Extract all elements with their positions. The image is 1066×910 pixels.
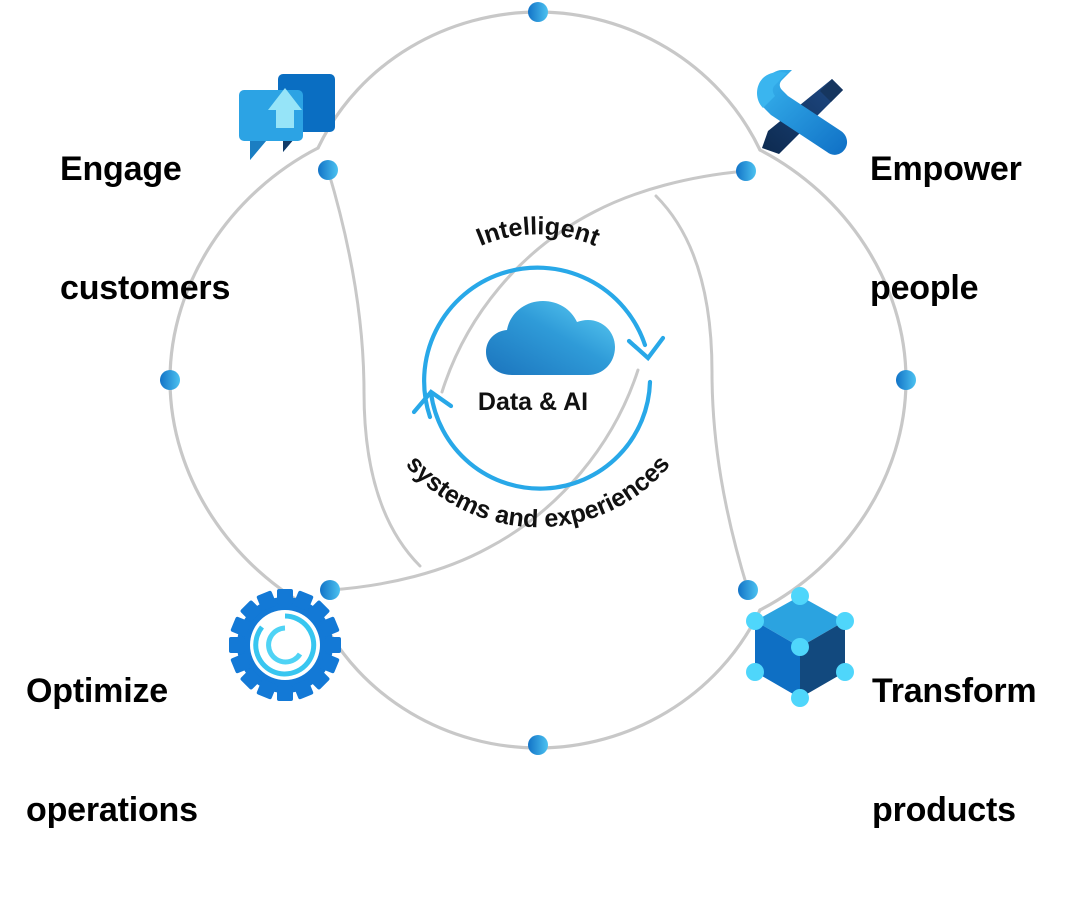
spiral-arm-top-left bbox=[328, 170, 420, 566]
ring-arc-top bbox=[318, 12, 760, 150]
ring-arc-bottom bbox=[318, 610, 760, 748]
pillar-label-empower-line2: people bbox=[870, 269, 1022, 309]
pillar-label-transform-line1: Transform bbox=[872, 672, 1036, 712]
gear-icon bbox=[229, 589, 341, 701]
pillar-label-engage-customers[interactable]: Engage customers bbox=[60, 70, 230, 388]
pillar-label-optimize-operations[interactable]: Optimize operations bbox=[26, 592, 198, 910]
node-top[interactable] bbox=[528, 2, 548, 22]
node-bottom[interactable] bbox=[528, 735, 548, 755]
pillar-label-optimize-line1: Optimize bbox=[26, 672, 198, 712]
wrench-screwdriver-icon bbox=[757, 70, 847, 155]
cloud-icon bbox=[486, 301, 615, 375]
cycle-arrowhead-right bbox=[629, 338, 663, 358]
node-inner-top-right[interactable] bbox=[736, 161, 756, 181]
pillar-label-empower-people[interactable]: Empower people bbox=[870, 70, 1022, 388]
circular-arrow-icon bbox=[414, 268, 663, 489]
cube-nodes-icon bbox=[746, 587, 854, 707]
node-inner-bottom-left[interactable] bbox=[320, 580, 340, 600]
gear-hub bbox=[250, 610, 320, 680]
speech-bubbles-icon bbox=[239, 74, 335, 160]
speech-bubble-front-tail bbox=[250, 141, 266, 160]
pillar-label-engage-line1: Engage bbox=[60, 150, 230, 190]
core-label-data-and-ai: Data & AI bbox=[0, 388, 1066, 417]
pillar-label-engage-line2: customers bbox=[60, 269, 230, 309]
pillar-label-optimize-line2: operations bbox=[26, 791, 198, 831]
arc-text-systems-experiences: systems and experiences bbox=[401, 450, 676, 533]
node-inner-bottom-right[interactable] bbox=[738, 580, 758, 600]
pillar-label-transform-line2: products bbox=[872, 791, 1036, 831]
node-inner-top-left[interactable] bbox=[318, 160, 338, 180]
pillar-label-empower-line1: Empower bbox=[870, 150, 1022, 190]
diagram-canvas: Intelligent systems and experiences bbox=[0, 0, 1066, 762]
cloud-shape bbox=[486, 301, 615, 375]
pillar-label-transform-products[interactable]: Transform products bbox=[872, 592, 1036, 910]
